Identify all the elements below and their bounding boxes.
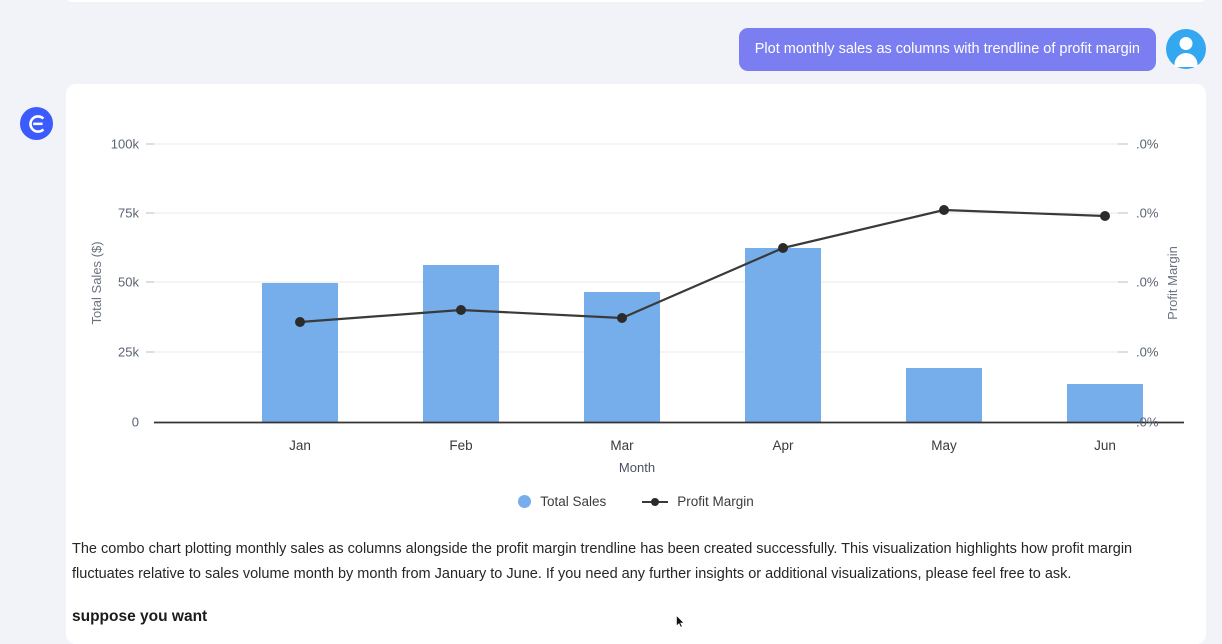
legend-swatch-circle-icon <box>518 495 531 508</box>
ytick-label-0: 0 <box>132 415 139 430</box>
legend-item-total-sales[interactable]: Total Sales <box>518 494 606 509</box>
user-message-bubble: Plot monthly sales as columns with trend… <box>739 28 1156 71</box>
y2tick-label-4: .0% <box>1136 137 1159 152</box>
bar-feb <box>423 265 499 422</box>
ytick-label-100k: 100k <box>111 137 140 152</box>
left-axis-ticks <box>146 144 154 352</box>
combo-chart: 100k 75k 50k 25k 0 .0% .0% .0% .0% .0% J… <box>66 84 1206 524</box>
chart-legend: Total Sales Profit Margin <box>66 494 1206 509</box>
chat-page: Plot monthly sales as columns with trend… <box>0 0 1222 625</box>
bar-jun <box>1067 384 1143 422</box>
y2tick-label-2: .0% <box>1136 275 1159 290</box>
legend-label-total-sales: Total Sales <box>540 494 606 509</box>
xtick-label-may: May <box>931 438 957 453</box>
y-axis-title: Total Sales ($) <box>89 241 104 324</box>
xtick-label-feb: Feb <box>449 438 472 453</box>
xtick-label-jan: Jan <box>289 438 311 453</box>
x-axis-title: Month <box>619 460 655 475</box>
legend-label-profit-margin: Profit Margin <box>677 494 754 509</box>
xtick-label-jun: Jun <box>1094 438 1116 453</box>
marker-jun <box>1100 211 1110 221</box>
bar-jan <box>262 283 338 422</box>
followup-heading: suppose you want <box>72 608 207 626</box>
bar-series-total-sales <box>262 248 1143 422</box>
user-message-row: Plot monthly sales as columns with trend… <box>0 28 1222 71</box>
marker-apr <box>778 243 788 253</box>
y2tick-label-3: .0% <box>1136 206 1159 221</box>
y2-axis-title: Profit Margin <box>1165 246 1180 320</box>
assistant-answer-text: The combo chart plotting monthly sales a… <box>72 537 1162 587</box>
y2tick-label-1: .0% <box>1136 345 1159 360</box>
bar-mar <box>584 292 660 422</box>
right-axis-ticks <box>1118 144 1128 422</box>
bar-apr <box>745 248 821 422</box>
ytick-label-25k: 25k <box>118 345 139 360</box>
xtick-label-mar: Mar <box>610 438 634 453</box>
legend-item-profit-margin[interactable]: Profit Margin <box>642 494 754 509</box>
marker-mar <box>617 313 627 323</box>
ytick-label-50k: 50k <box>118 275 139 290</box>
bar-may <box>906 368 982 422</box>
assistant-e-logo-icon <box>20 107 53 140</box>
chart-canvas: 100k 75k 50k 25k 0 .0% .0% .0% .0% .0% J… <box>66 84 1206 494</box>
marker-jan <box>295 317 305 327</box>
mouse-cursor-icon <box>676 615 685 628</box>
legend-swatch-line-marker-icon <box>642 495 668 508</box>
previous-message-card <box>66 0 1206 2</box>
line-markers <box>295 205 1110 327</box>
marker-may <box>939 205 949 215</box>
y2tick-label-0: .0% <box>1136 415 1159 430</box>
ytick-label-75k: 75k <box>118 206 139 221</box>
marker-feb <box>456 305 466 315</box>
user-person-icon <box>1166 29 1206 69</box>
line-series-profit-margin <box>300 210 1105 322</box>
xtick-label-apr: Apr <box>772 438 794 453</box>
